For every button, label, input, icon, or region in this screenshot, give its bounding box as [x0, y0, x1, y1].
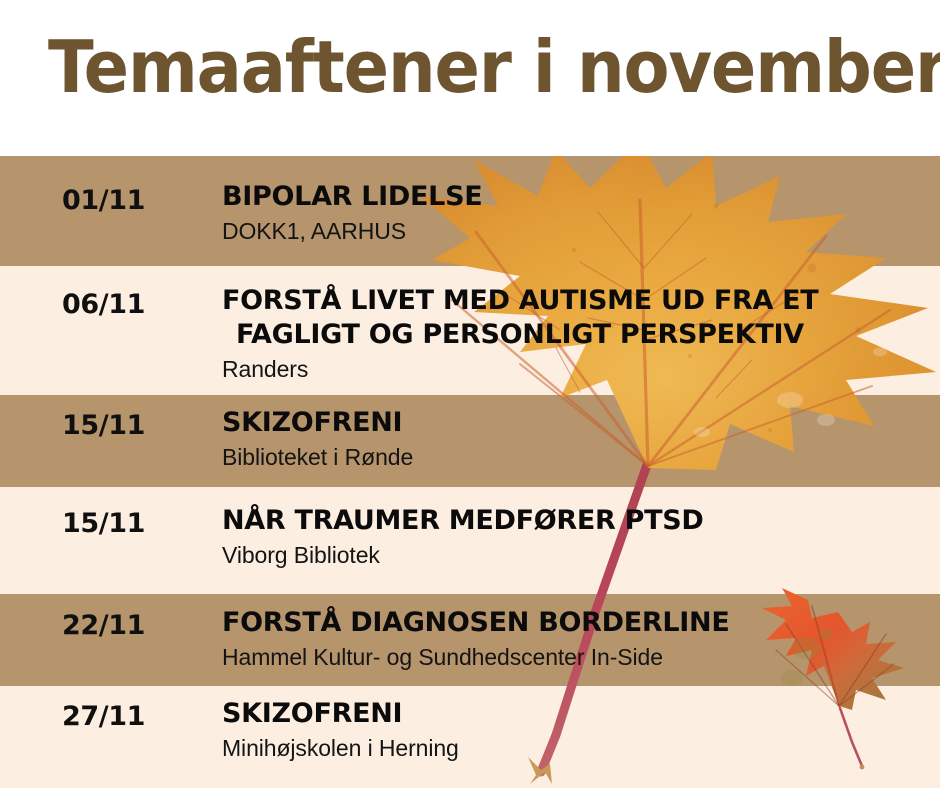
event-date: 15/11 [62, 509, 145, 539]
event-title-line1: FORSTÅ DIAGNOSEN BORDERLINE [222, 607, 729, 638]
poster-canvas: Temaaftener i november 01/11 BIPOLAR LID… [0, 0, 940, 788]
event-row: 06/11 FORSTÅ LIVET MED AUTISME UD FRA ET… [0, 266, 940, 395]
page-title: Temaaftener i november [48, 26, 940, 108]
event-venue: DOKK1, AARHUS [222, 216, 936, 246]
event-date: 22/11 [62, 611, 145, 641]
event-title: BIPOLAR LIDELSE [222, 180, 936, 214]
event-row: 15/11 SKIZOFRENI Biblioteket i Rønde [0, 395, 940, 487]
event-title: FORSTÅ LIVET MED AUTISME UD FRA ET FAGLI… [222, 284, 842, 352]
event-venue: Hammel Kultur- og Sundhedscenter In-Side [222, 642, 936, 672]
event-date: 01/11 [62, 186, 145, 216]
event-details: FORSTÅ LIVET MED AUTISME UD FRA ET FAGLI… [222, 284, 936, 384]
event-venue: Viborg Bibliotek [222, 540, 936, 570]
event-title-line1: NÅR TRAUMER MEDFØRER PTSD [222, 505, 704, 536]
event-date: 27/11 [62, 702, 145, 732]
event-title-line1: FORSTÅ LIVET MED AUTISME UD FRA ET [222, 285, 818, 316]
event-row: 01/11 BIPOLAR LIDELSE DOKK1, AARHUS [0, 156, 940, 266]
event-title-line1: SKIZOFRENI [222, 407, 402, 438]
event-row: 15/11 NÅR TRAUMER MEDFØRER PTSD Viborg B… [0, 487, 940, 594]
event-details: NÅR TRAUMER MEDFØRER PTSD Viborg Bibliot… [222, 504, 936, 570]
event-venue: Randers [222, 354, 936, 384]
event-title-line1: SKIZOFRENI [222, 698, 402, 729]
title-bar: Temaaftener i november [0, 0, 940, 156]
event-title: FORSTÅ DIAGNOSEN BORDERLINE [222, 606, 936, 640]
event-title: SKIZOFRENI [222, 406, 936, 440]
event-date: 15/11 [62, 411, 145, 441]
event-venue: Biblioteket i Rønde [222, 442, 936, 472]
event-date: 06/11 [62, 290, 145, 320]
event-row: 22/11 FORSTÅ DIAGNOSEN BORDERLINE Hammel… [0, 594, 940, 686]
event-title-line1: BIPOLAR LIDELSE [222, 181, 482, 212]
event-details: BIPOLAR LIDELSE DOKK1, AARHUS [222, 180, 936, 246]
event-details: FORSTÅ DIAGNOSEN BORDERLINE Hammel Kultu… [222, 606, 936, 672]
event-venue: Minihøjskolen i Herning [222, 733, 936, 763]
event-row: 27/11 SKIZOFRENI Minihøjskolen i Herning [0, 686, 940, 788]
event-title: SKIZOFRENI [222, 697, 936, 731]
event-title-line2: FAGLIGT OG PERSONLIGT PERSPEKTIV [222, 318, 842, 352]
event-details: SKIZOFRENI Biblioteket i Rønde [222, 406, 936, 472]
event-title: NÅR TRAUMER MEDFØRER PTSD [222, 504, 936, 538]
event-details: SKIZOFRENI Minihøjskolen i Herning [222, 697, 936, 763]
